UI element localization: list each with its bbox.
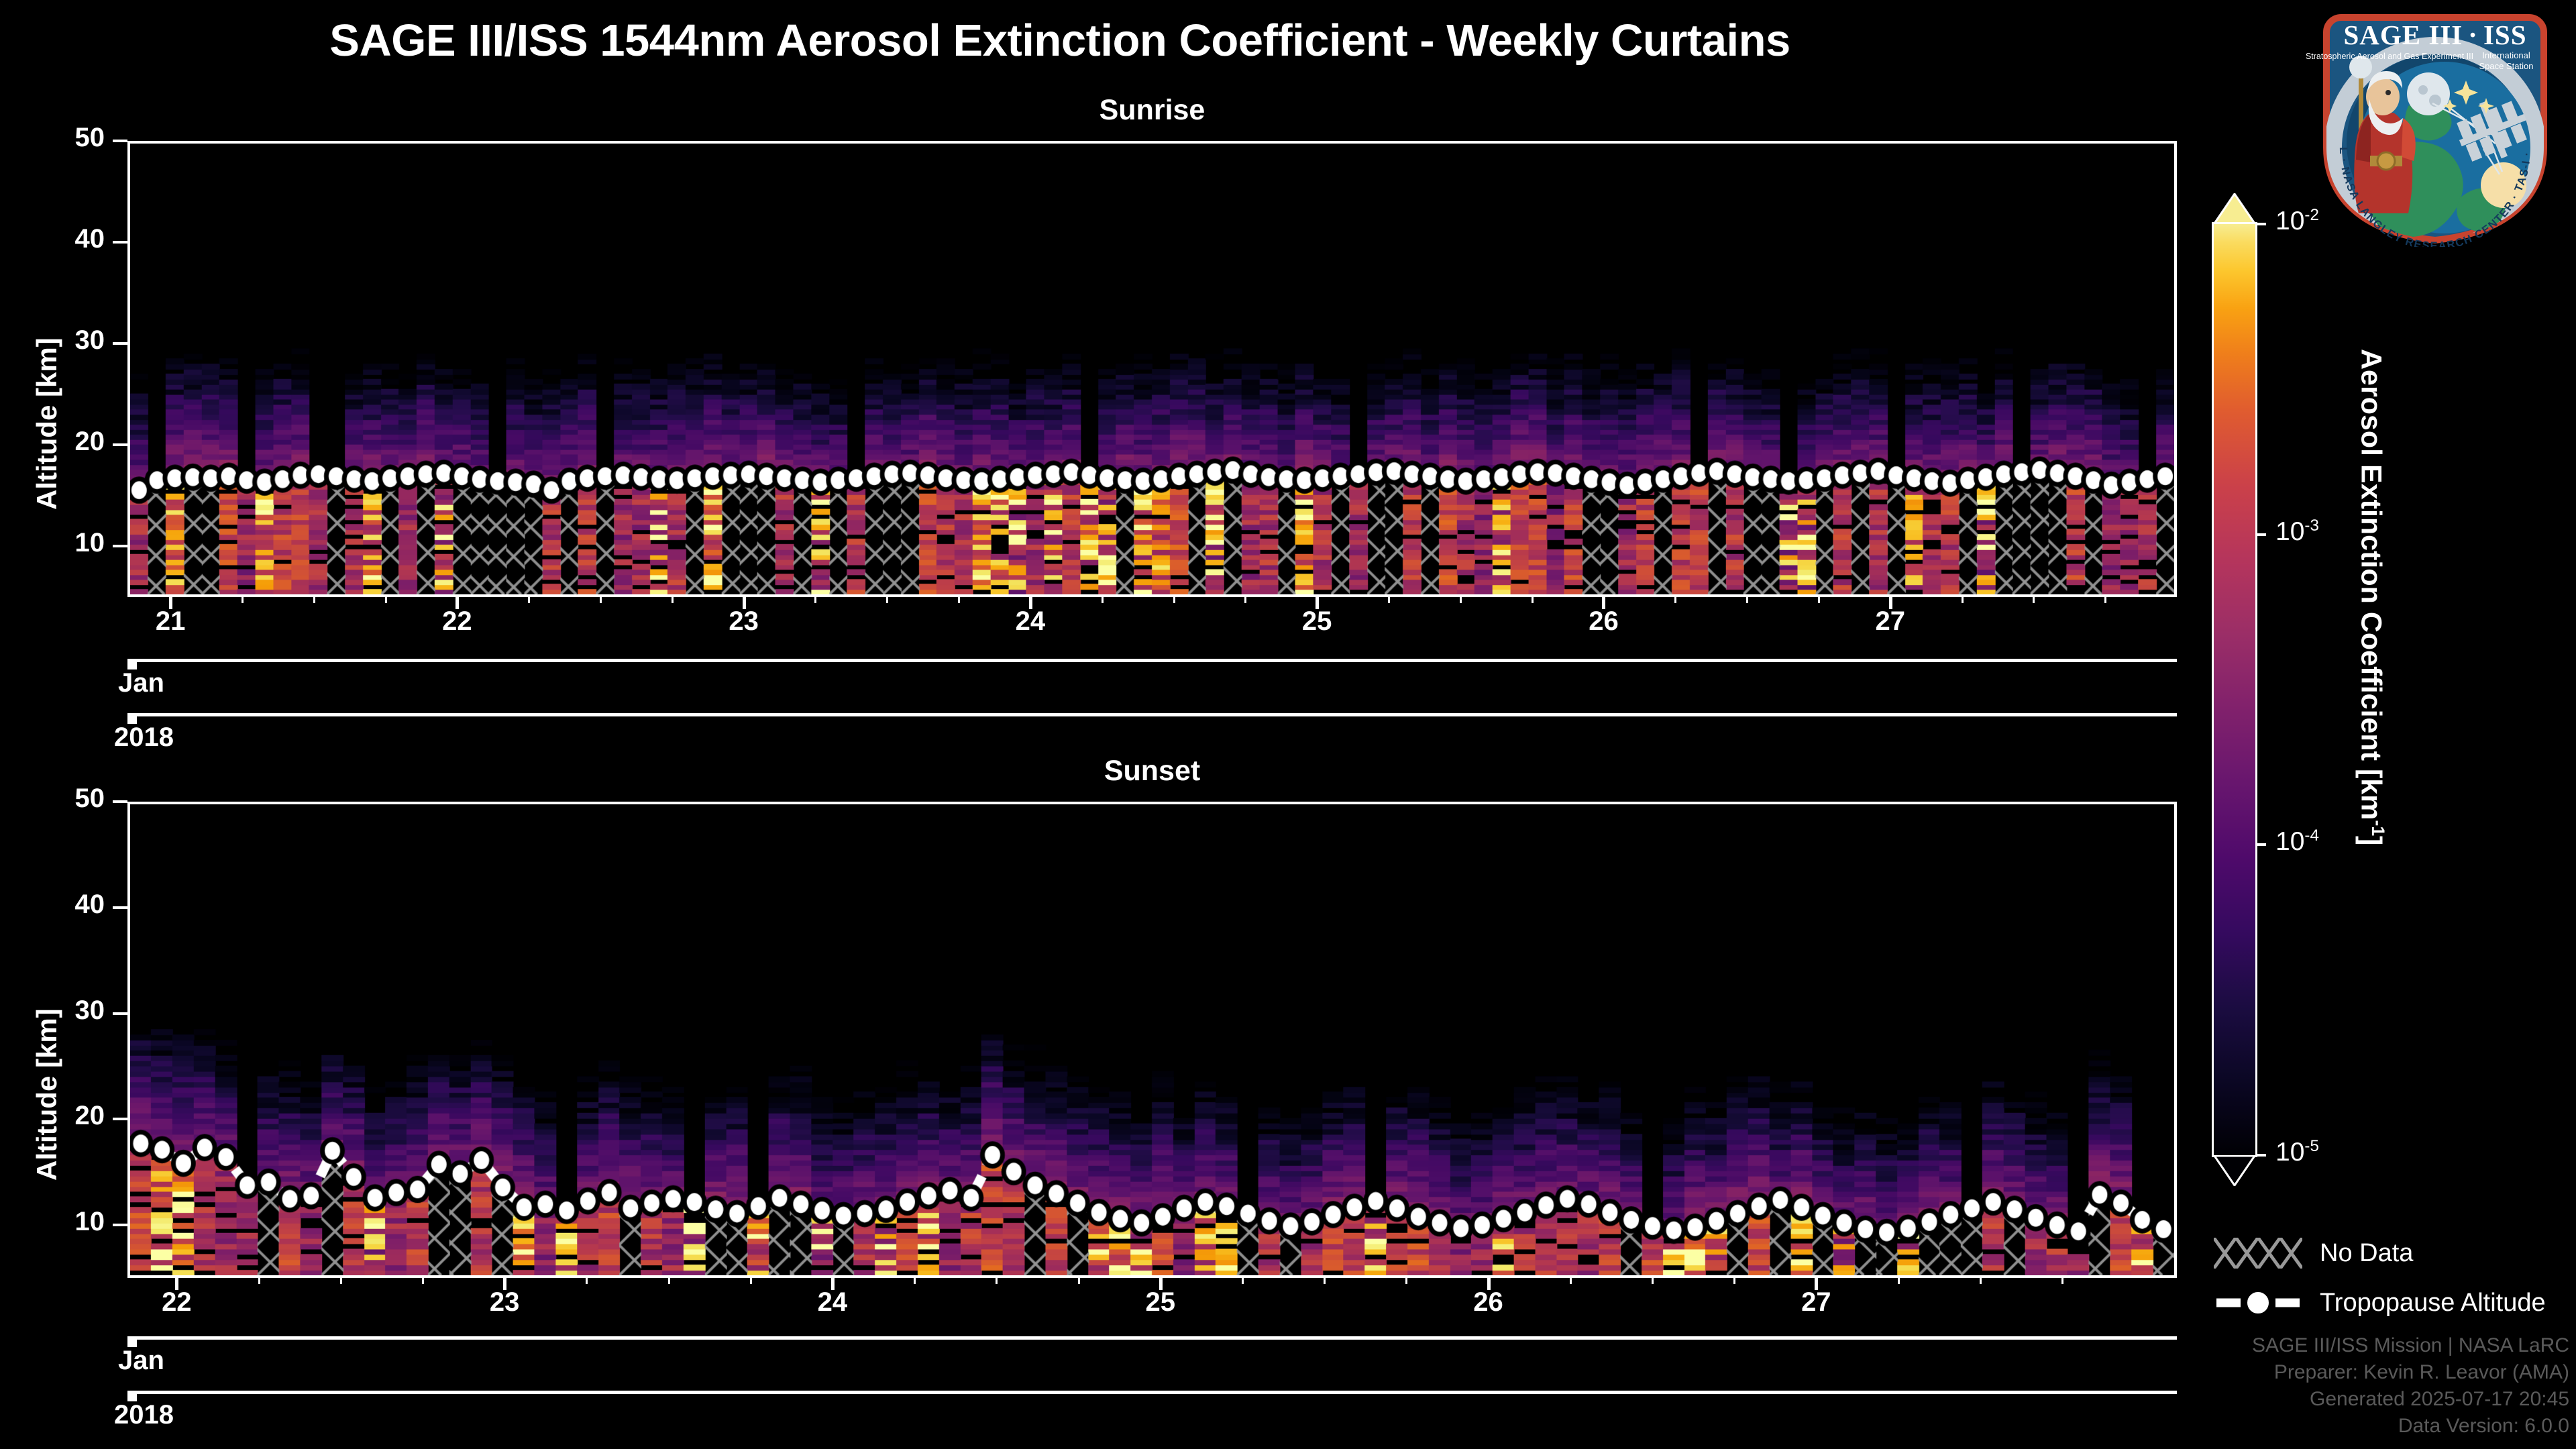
x-minor-tick <box>1733 1278 1735 1284</box>
colorbar-cap-top-icon <box>2214 193 2255 224</box>
x-minor-tick <box>814 597 816 603</box>
y-tick-label: 50 <box>0 784 105 814</box>
x-minor-tick <box>422 1278 424 1284</box>
logo-subtitle-right-1: International <box>2482 50 2530 60</box>
legend: No Data Tropopause Altitude <box>2214 1238 2563 1332</box>
colorbar[interactable] <box>2214 193 2255 1186</box>
colorbar-label: Aerosol Extinction Coefficient [km-1] <box>2355 349 2388 845</box>
tropopause-marker-icon <box>2214 1287 2302 1318</box>
x-minor-tick <box>313 597 315 603</box>
x-minor-tick <box>528 597 530 603</box>
y-tick-label: 30 <box>0 996 105 1026</box>
colorbar-label-exponent: -1 <box>2368 820 2388 836</box>
x-tick-mark <box>831 1278 835 1290</box>
x-tick-label: 21 <box>130 606 211 637</box>
footer-line-generated: Generated 2025-07-17 20:45 <box>2252 1386 2569 1413</box>
x-tick-label: 26 <box>1448 1287 1529 1318</box>
x-tick-mark <box>1159 1278 1163 1290</box>
footer-line-version: Data Version: 6.0.0 <box>2252 1413 2569 1440</box>
x-tick-label: 25 <box>1120 1287 1201 1318</box>
x-minor-tick <box>1570 1278 1572 1284</box>
x-minor-tick <box>1818 597 1820 603</box>
legend-item-tropopause[interactable]: Tropopause Altitude <box>2214 1287 2546 1318</box>
x-tick-mark <box>1487 1278 1491 1290</box>
panel-title-sunset: Sunset <box>127 755 2177 788</box>
x-minor-tick <box>241 597 244 603</box>
y-tick-mark <box>113 342 127 345</box>
y-tick-mark <box>113 1012 127 1015</box>
x-minor-tick <box>586 1278 588 1284</box>
x-tick-label: 22 <box>417 606 497 637</box>
y-tick-label: 40 <box>0 890 105 920</box>
logo-title-dot: · <box>2468 19 2478 50</box>
x-minor-tick <box>258 1278 260 1284</box>
x-tick-mark <box>1029 597 1032 609</box>
x-tick-label: 23 <box>704 606 784 637</box>
y-tick-label: 20 <box>0 1101 105 1131</box>
x-tick-label: 24 <box>990 606 1071 637</box>
no-data-hatch-icon <box>2214 1238 2302 1269</box>
y-axis-label-sunset: Altitude [km] <box>31 1008 63 1181</box>
sage-iii-iss-mission-patch-logo: SAGE III·ISS Stratospheric Aerosol and G… <box>2301 5 2569 247</box>
plot-area-sunset[interactable] <box>127 802 2177 1278</box>
y-tick-mark <box>113 906 127 909</box>
x-tick-mark <box>503 1278 506 1290</box>
x-minor-tick <box>1898 1278 1900 1284</box>
colorbar-label-tail: ] <box>2355 836 2387 845</box>
colorbar-label-text: Aerosol Extinction Coefficient [km <box>2355 349 2387 820</box>
y-tick-label: 20 <box>0 427 105 457</box>
year-bracket-sunrise <box>127 713 2177 716</box>
y-tick-label: 30 <box>0 325 105 356</box>
plot-area-sunrise[interactable] <box>127 141 2177 597</box>
x-minor-tick <box>2061 1278 2063 1284</box>
legend-item-no-data[interactable]: No Data <box>2214 1238 2413 1269</box>
x-minor-tick <box>1532 597 1534 603</box>
colorbar-tick-mark <box>2255 843 2266 846</box>
x-minor-tick <box>1102 597 1104 603</box>
x-minor-tick <box>750 1278 752 1284</box>
y-tick-mark <box>113 545 127 547</box>
x-minor-tick <box>1460 597 1462 603</box>
x-minor-tick <box>1242 1278 1244 1284</box>
logo-title-left: SAGE III <box>2343 19 2463 50</box>
x-minor-tick <box>1244 597 1246 603</box>
figure-canvas: SAGE III/ISS 1544nm Aerosol Extinction C… <box>0 0 2576 1449</box>
x-minor-tick <box>1388 597 1390 603</box>
y-tick-label: 10 <box>0 1207 105 1237</box>
x-minor-tick <box>1324 1278 1326 1284</box>
x-tick-mark <box>455 597 459 609</box>
y-tick-label: 10 <box>0 528 105 558</box>
year-bracket-sunset <box>127 1391 2177 1394</box>
x-minor-tick <box>1652 1278 1654 1284</box>
x-tick-label: 23 <box>464 1287 545 1318</box>
x-tick-mark <box>1316 597 1319 609</box>
y-tick-mark <box>113 800 127 803</box>
year-label-sunset: 2018 <box>114 1400 174 1430</box>
x-minor-tick <box>1405 1278 1407 1284</box>
colorbar-tick-label: 10-4 <box>2275 826 2319 857</box>
x-minor-tick <box>2104 597 2106 603</box>
x-minor-tick <box>672 597 674 603</box>
logo-subtitle-left: Stratospheric Aerosol and Gas Experiment… <box>2306 52 2473 61</box>
colorbar-tick-mark <box>2255 1154 2266 1157</box>
heatmap-canvas-sunset <box>130 804 2174 1275</box>
x-minor-tick <box>2033 597 2035 603</box>
footer-line-preparer: Preparer: Kevin R. Leavor (AMA) <box>2252 1359 2569 1386</box>
x-tick-mark <box>743 597 746 609</box>
svg-text:SAGE III·ISS: SAGE III·ISS <box>2343 19 2526 50</box>
logo-subtitle-right-2: Space Station <box>2479 61 2534 71</box>
x-tick-label: 26 <box>1563 606 1644 637</box>
y-axis-label-sunrise: Altitude [km] <box>31 337 63 510</box>
x-minor-tick <box>914 1278 916 1284</box>
year-label-sunrise: 2018 <box>114 722 174 753</box>
x-tick-label: 25 <box>1277 606 1357 637</box>
x-tick-label: 22 <box>136 1287 217 1318</box>
y-tick-label: 50 <box>0 123 105 153</box>
x-minor-tick <box>886 597 888 603</box>
y-tick-mark <box>113 241 127 244</box>
x-tick-mark <box>1602 597 1605 609</box>
x-minor-tick <box>1980 1278 1982 1284</box>
x-minor-tick <box>996 1278 998 1284</box>
x-tick-label: 27 <box>1850 606 1931 637</box>
logo-title-right: ISS <box>2483 19 2527 50</box>
x-minor-tick <box>1674 597 1676 603</box>
x-minor-tick <box>1962 597 1964 603</box>
x-minor-tick <box>958 597 960 603</box>
y-tick-mark <box>113 1224 127 1226</box>
panel-title-sunrise: Sunrise <box>127 94 2177 127</box>
y-tick-mark <box>113 140 127 142</box>
y-tick-label: 40 <box>0 224 105 254</box>
x-tick-mark <box>1889 597 1892 609</box>
x-tick-label: 27 <box>1776 1287 1856 1318</box>
x-minor-tick <box>1746 597 1748 603</box>
x-tick-mark <box>175 1278 178 1290</box>
footer-line-mission: SAGE III/ISS Mission | NASA LaRC <box>2252 1332 2569 1359</box>
x-minor-tick <box>385 597 387 603</box>
x-minor-tick <box>340 1278 342 1284</box>
x-tick-mark <box>169 597 172 609</box>
y-tick-mark <box>113 1118 127 1120</box>
month-label-sunset: Jan <box>118 1346 164 1376</box>
month-label-sunrise: Jan <box>118 668 164 698</box>
colorbar-tick-mark <box>2255 223 2266 225</box>
page-title: SAGE III/ISS 1544nm Aerosol Extinction C… <box>0 15 2120 66</box>
colorbar-tick-label: 10-3 <box>2275 517 2319 547</box>
month-bracket-sunrise <box>127 659 2177 662</box>
month-bracket-sunset <box>127 1336 2177 1340</box>
colorbar-tick-mark <box>2255 533 2266 536</box>
x-minor-tick <box>1078 1278 1080 1284</box>
x-tick-mark <box>1815 1278 1818 1290</box>
x-minor-tick <box>668 1278 670 1284</box>
footer-credits: SAGE III/ISS Mission | NASA LaRC Prepare… <box>2252 1332 2569 1440</box>
colorbar-gradient <box>2214 224 2255 1155</box>
x-minor-tick <box>600 597 602 603</box>
y-tick-mark <box>113 443 127 446</box>
colorbar-cap-bottom-icon <box>2214 1155 2255 1186</box>
x-tick-label: 24 <box>792 1287 873 1318</box>
heatmap-canvas-sunrise <box>130 144 2174 594</box>
legend-label-no-data: No Data <box>2320 1239 2413 1268</box>
legend-label-tropopause: Tropopause Altitude <box>2320 1289 2546 1318</box>
colorbar-tick-label: 10-5 <box>2275 1137 2319 1167</box>
x-minor-tick <box>1173 597 1175 603</box>
